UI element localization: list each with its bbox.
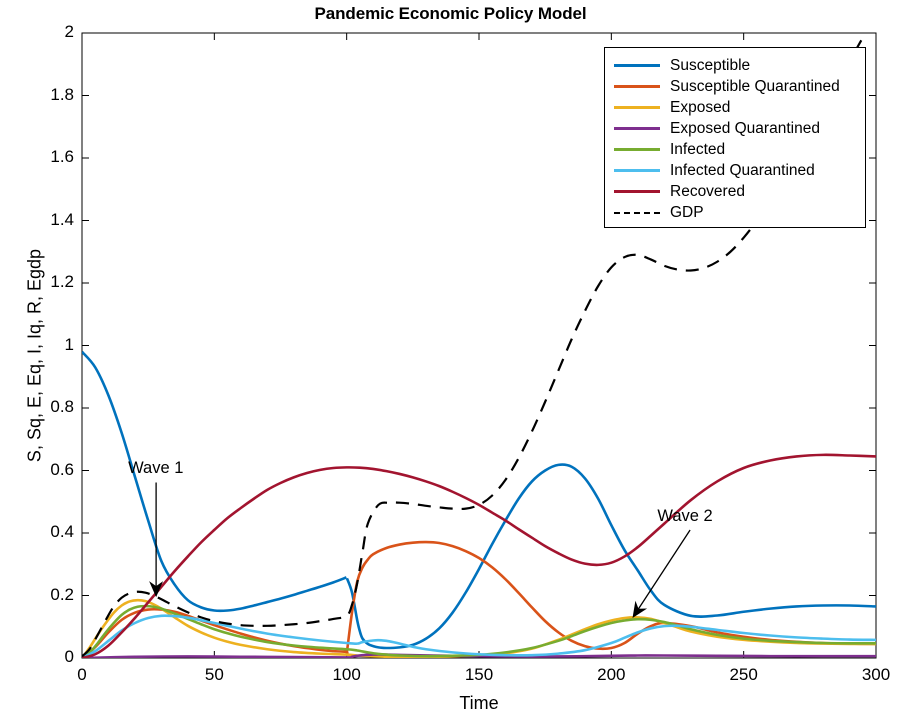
- legend-swatch-infected: [614, 148, 660, 151]
- legend-label: Exposed: [670, 100, 730, 116]
- legend-label: GDP: [670, 205, 704, 221]
- annotation-arrows: [149, 483, 690, 619]
- annotation-label-1: Wave 1: [128, 459, 183, 478]
- series-line-susceptible: [82, 352, 876, 648]
- legend-item-infected[interactable]: Infected: [605, 139, 865, 160]
- y-tick-label: 0.2: [14, 585, 74, 605]
- legend-swatch-gdp: [614, 212, 660, 214]
- legend-swatch-exposed-quarantined: [614, 127, 660, 130]
- legend-item-exposed-quarantined[interactable]: Exposed Quarantined: [605, 118, 865, 139]
- legend-item-exposed[interactable]: Exposed: [605, 97, 865, 118]
- series-line-recovered: [82, 455, 876, 658]
- y-tick-label: 0.8: [14, 397, 74, 417]
- legend-swatch-susceptible: [614, 64, 660, 67]
- y-tick-label: 1.2: [14, 272, 74, 292]
- x-tick-label: 200: [576, 665, 646, 685]
- legend-label: Recovered: [670, 184, 745, 200]
- figure: Pandemic Economic Policy Model S, Sq, E,…: [0, 0, 901, 727]
- y-tick-label: 0.4: [14, 522, 74, 542]
- legend-label: Exposed Quarantined: [670, 121, 820, 137]
- legend-swatch-exposed: [614, 106, 660, 109]
- x-tick-label: 50: [179, 665, 249, 685]
- legend-swatch-susceptible-quarantined: [614, 85, 660, 88]
- legend-item-infected-quarantined[interactable]: Infected Quarantined: [605, 160, 865, 181]
- legend-item-gdp[interactable]: GDP: [605, 202, 865, 223]
- y-tick-label: 1.8: [14, 85, 74, 105]
- y-tick-label: 1: [14, 335, 74, 355]
- legend-item-susceptible[interactable]: Susceptible: [605, 55, 865, 76]
- y-tick-label: 0.6: [14, 460, 74, 480]
- y-tick-label: 2: [14, 22, 74, 42]
- y-tick-label: 0: [14, 647, 74, 667]
- x-tick-label: 150: [444, 665, 514, 685]
- y-tick-label: 1.6: [14, 147, 74, 167]
- legend-label: Susceptible: [670, 58, 750, 74]
- legend-label: Infected Quarantined: [670, 163, 815, 179]
- x-tick-label: 250: [709, 665, 779, 685]
- legend-item-susceptible-quarantined[interactable]: Susceptible Quarantined: [605, 76, 865, 97]
- legend-swatch-infected-quarantined: [614, 169, 660, 172]
- legend-label: Infected: [670, 142, 725, 158]
- legend-item-recovered[interactable]: Recovered: [605, 181, 865, 202]
- chart-legend: SusceptibleSusceptible QuarantinedExpose…: [604, 47, 866, 228]
- x-tick-label: 0: [47, 665, 117, 685]
- x-tick-label: 300: [841, 665, 901, 685]
- x-tick-label: 100: [312, 665, 382, 685]
- legend-label: Susceptible Quarantined: [670, 79, 840, 95]
- annotation-label-2: Wave 2: [657, 507, 712, 526]
- annotation-arrowhead-2: [633, 601, 648, 618]
- legend-swatch-recovered: [614, 190, 660, 193]
- y-tick-label: 1.4: [14, 210, 74, 230]
